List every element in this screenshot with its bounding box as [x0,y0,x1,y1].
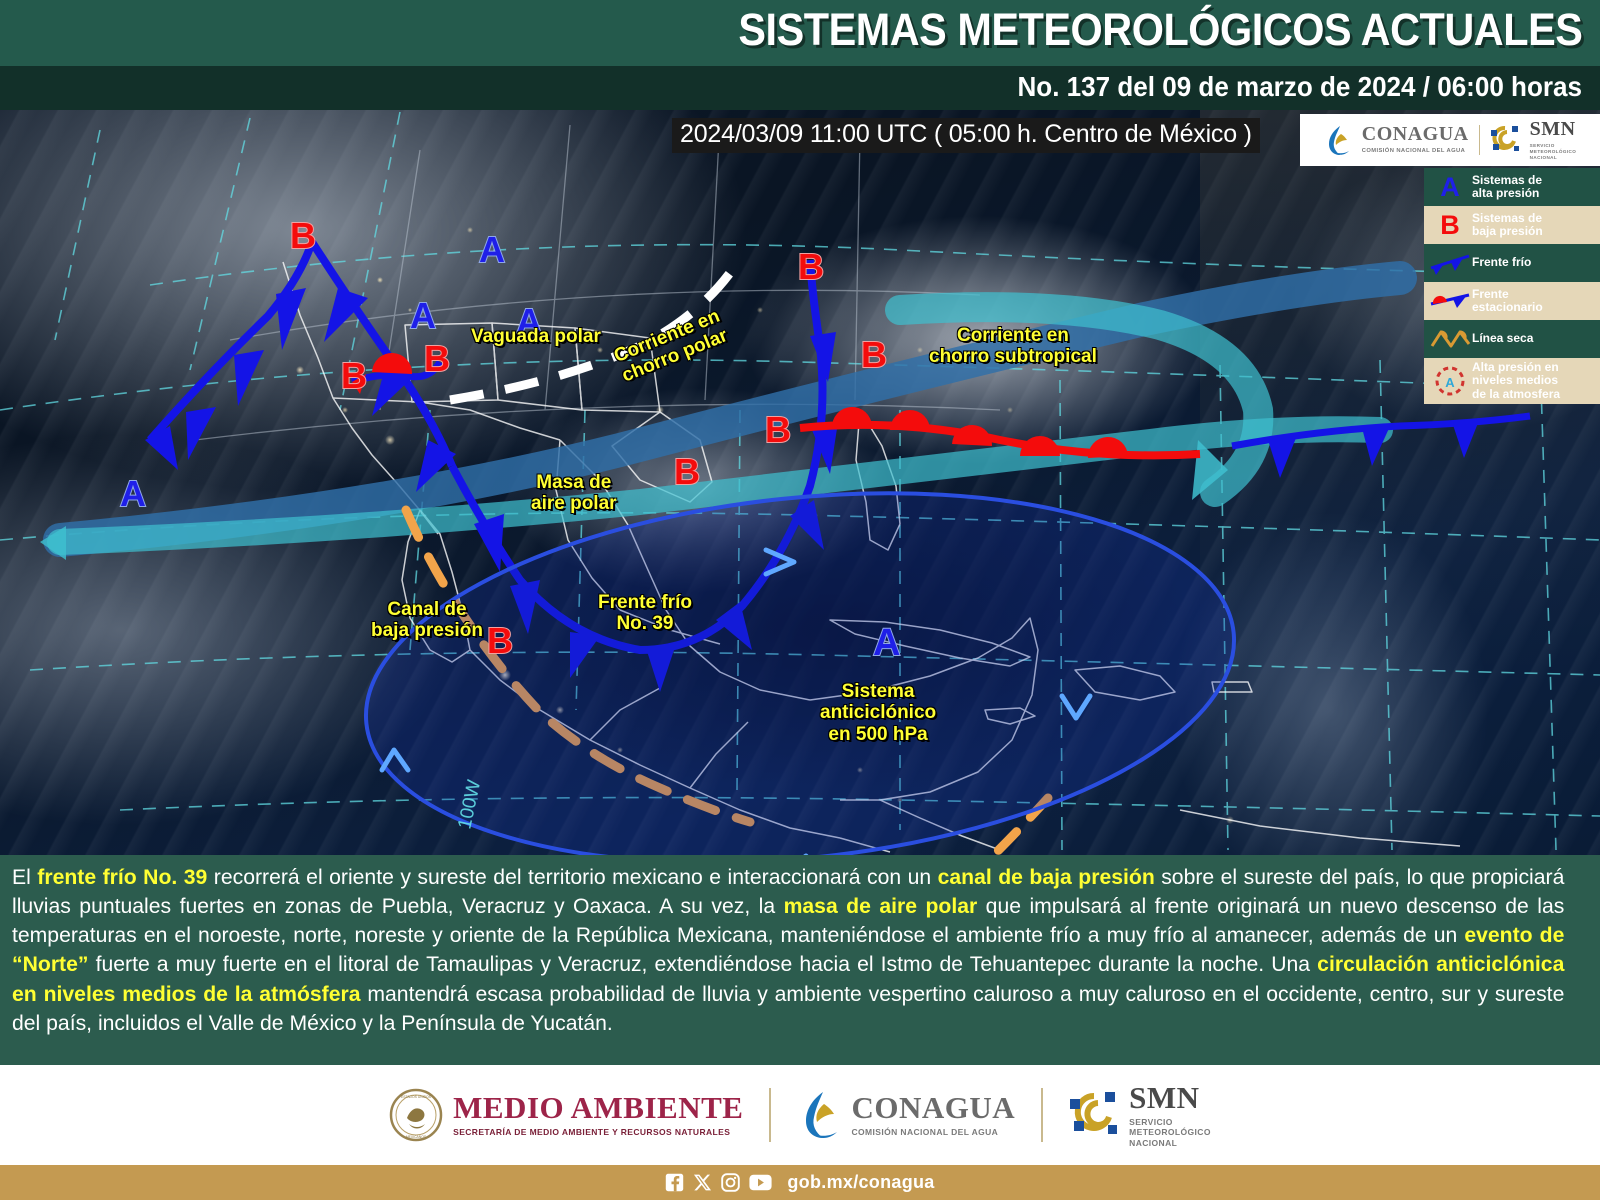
map-legend: ASistemas de alta presiónBSistemas de ba… [1424,168,1600,404]
bulletin-number-date: No. 137 del 09 de marzo de 2024 / 06:00 … [1018,71,1582,103]
legend-label: Frente frío [1472,256,1531,269]
header-title-bar: SISTEMAS METEOROLÓGICOS ACTUALES [0,0,1600,66]
legend-label: Sistemas de alta presión [1472,174,1542,201]
map-timestamp: 2024/03/09 11:00 UTC ( 05:00 h. Centro d… [672,118,1260,153]
mexico-eagle-seal-icon: ESTADOS UNIDOS MEXICANOS [389,1088,443,1142]
forecast-text-panel: El frente frío No. 39 recorrerá el orien… [0,855,1600,1065]
facebook-icon[interactable] [665,1173,684,1192]
medio-ambiente-logo: ESTADOS UNIDOS MEXICANOS MEDIO AMBIENTE … [389,1088,743,1142]
mid-level-high-icon: A [1428,365,1472,397]
logo-separator [1479,125,1480,155]
instagram-icon[interactable] [721,1173,740,1192]
map-overlay-graphics: 100W [0,110,1600,855]
highlighted-term: masa de aire polar [784,894,978,918]
legend-label: Línea seca [1472,332,1533,345]
medio-ambiente-title: MEDIO AMBIENTE [453,1092,743,1123]
footer-smn-logo: SMN SERVICIO METEOROLÓGICO NACIONAL [1069,1082,1211,1149]
legend-row-0: ASistemas de alta presión [1424,168,1600,206]
x-twitter-icon[interactable] [693,1173,712,1192]
map-conagua-logo: CONAGUA COMISIÓN NACIONAL DEL AGUA [1324,123,1469,157]
highlighted-term: frente frío No. 39 [37,865,207,889]
svg-text:MEXICANOS: MEXICANOS [406,1135,427,1139]
letter-A-icon: A [1428,171,1472,203]
smn-spiral-icon [1069,1089,1119,1141]
header-subtitle-bar: No. 137 del 09 de marzo de 2024 / 06:00 … [0,66,1600,110]
satellite-map[interactable]: 100W BAAABBBBBBABA Vaguada polarCorrient… [0,110,1600,855]
legend-row-2: Frente frío [1424,244,1600,282]
legend-row-1: BSistemas de baja presión [1424,206,1600,244]
smn-title: SMN [1129,1082,1211,1113]
stationary-front-icon [1428,285,1472,317]
svg-text:A: A [1445,375,1455,390]
legend-row-5: AAlta presión en niveles medios de la at… [1424,358,1600,404]
conagua-subtitle: COMISIÓN NACIONAL DEL AGUA [851,1127,1015,1138]
youtube-icon[interactable] [749,1173,772,1192]
legend-row-4: Línea seca [1424,320,1600,358]
page-title: SISTEMAS METEOROLÓGICOS ACTUALES [738,4,1582,56]
medio-ambiente-subtitle: SECRETARÍA DE MEDIO AMBIENTE Y RECURSOS … [453,1127,743,1138]
cold-front-icon [1428,247,1472,279]
highlighted-term: canal de baja presión [938,865,1155,889]
weather-bulletin-page: SISTEMAS METEOROLÓGICOS ACTUALES No. 137… [0,0,1600,1200]
footer-logo-bar: ESTADOS UNIDOS MEXICANOS MEDIO AMBIENTE … [0,1065,1600,1165]
legend-label: Sistemas de baja presión [1472,212,1543,239]
website-url[interactable]: gob.mx/conagua [787,1172,934,1193]
forecast-text: El frente frío No. 39 recorrerá el orien… [12,863,1564,1038]
conagua-wave-icon [1324,123,1352,157]
legend-label: Alta presión en niveles medios de la atm… [1472,361,1560,401]
legend-row-3: Frente estacionario [1424,282,1600,320]
footer-conagua-logo: CONAGUA COMISIÓN NACIONAL DEL AGUA [797,1088,1015,1142]
body-text-segment: fuerte a muy fuerte en el litoral de Tam… [88,952,1317,976]
body-text-segment: recorrerá el oriente y sureste del terri… [207,865,937,889]
svg-text:ESTADOS UNIDOS: ESTADOS UNIDOS [401,1095,432,1099]
footer-separator-2 [1041,1088,1043,1142]
letter-B-icon: B [1428,209,1472,241]
social-media-bar: gob.mx/conagua [0,1165,1600,1200]
dry-line-icon [1428,323,1472,355]
conagua-title: CONAGUA [851,1092,1015,1123]
body-text-segment: El [12,865,37,889]
map-logo-strip: CONAGUA COMISIÓN NACIONAL DEL AGUA SMN S… [1300,114,1600,166]
legend-label: Frente estacionario [1472,288,1543,315]
conagua-wave-icon [797,1088,841,1142]
smn-subtitle: SERVICIO METEOROLÓGICO NACIONAL [1129,1117,1211,1149]
footer-separator-1 [769,1088,771,1142]
map-smn-logo: SMN SERVICIOMETEOROLÓGICONACIONAL [1490,119,1577,161]
smn-spiral-icon [1490,124,1520,156]
